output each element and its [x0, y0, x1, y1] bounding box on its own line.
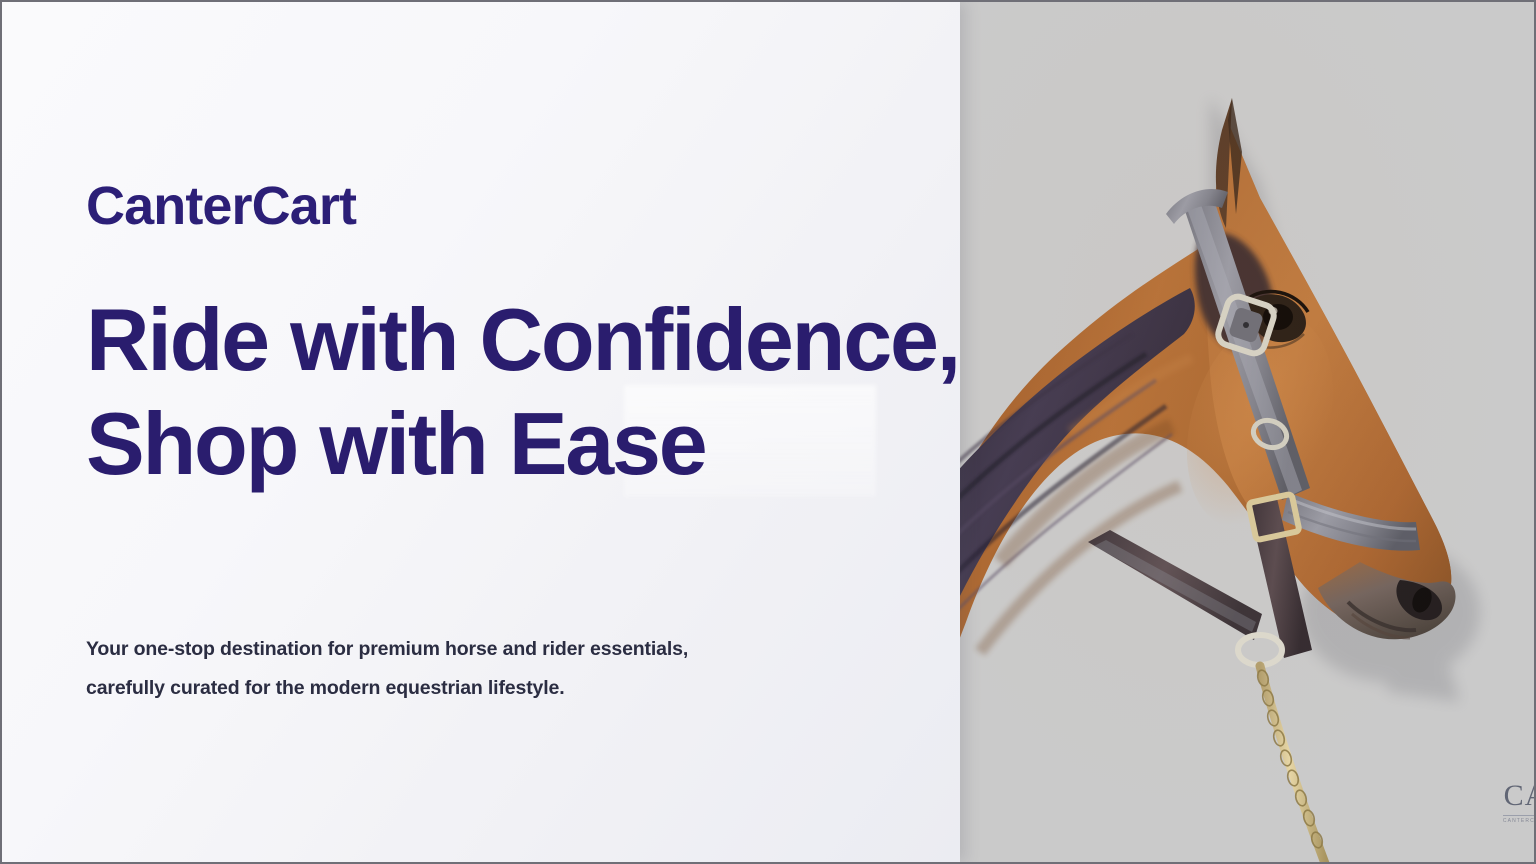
subtitle-line-1: Your one-stop destination for premium ho… — [86, 630, 876, 669]
subtitle-line-2: carefully curated for the modern equestr… — [86, 669, 876, 708]
headline-line-2: Shop with Ease — [86, 392, 959, 496]
hero-subtitle: Your one-stop destination for premium ho… — [86, 630, 876, 708]
hero-text-panel: CanterCart Ride with Confidence, Shop wi… — [2, 2, 960, 862]
brand-logo-text: CanterCart — [86, 178, 356, 235]
headline-line-1: Ride with Confidence, — [86, 288, 959, 392]
hero-content: CanterCart Ride with Confidence, Shop wi… — [2, 2, 960, 862]
presentation-slide: CA CANTERCART CanterCart Ride with Confi… — [0, 0, 1536, 864]
page-title: Ride with Confidence, Shop with Ease — [86, 288, 959, 496]
hero-image-panel: CA CANTERCART — [960, 2, 1536, 862]
horse-head-profile-photo — [960, 2, 1536, 862]
